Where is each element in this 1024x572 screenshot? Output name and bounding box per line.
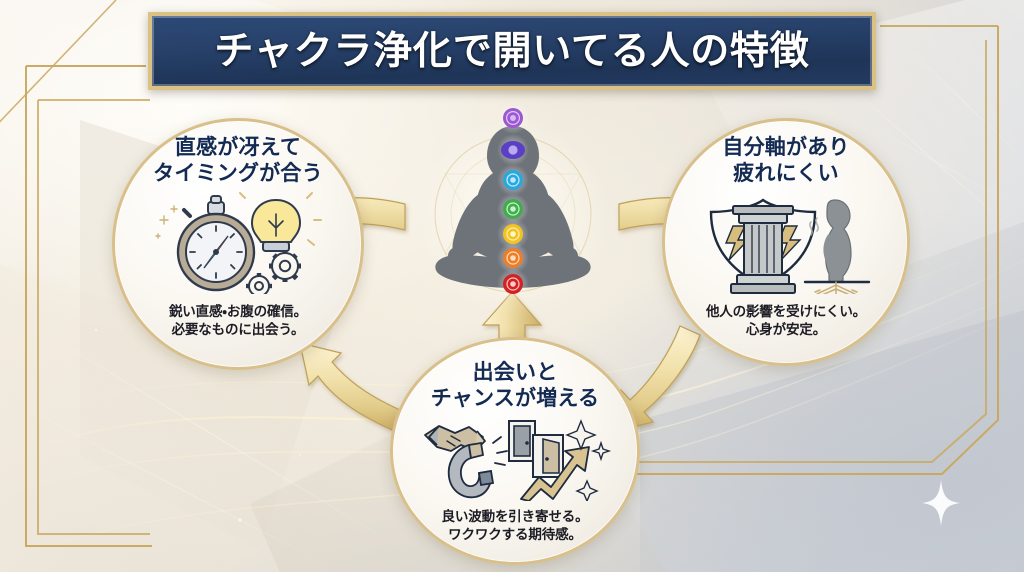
page-title: チャクラ浄化で開いてる人の特徴 (214, 32, 809, 71)
gear-small-icon (246, 273, 272, 294)
title-banner: チャクラ浄化で開いてる人の特徴 (148, 12, 876, 90)
infographic-canvas: チャクラ浄化で開いてる人の特徴 (0, 0, 1024, 572)
node-self-axis-icons (693, 190, 879, 299)
node-intuition[interactable]: 直感が冴えて タイミングが合う (112, 118, 364, 370)
node-intuition-title: 直感が冴えて タイミングが合う (153, 135, 323, 186)
node-opportunities-subtext: 良い波動を引き寄せる。 ワクワクする期待感。 (441, 508, 588, 544)
sparkle-icon (156, 206, 177, 238)
four-point-sparkle-icon (922, 480, 960, 526)
node-intuition-icons (148, 190, 328, 299)
node-intuition-subtext: 鋭い直感・お腹の確信。 必要なものに出会う。 (169, 303, 307, 339)
node-self-axis-title: 自分軸があり 疲れにくい (722, 135, 849, 186)
chakra-third-eye (497, 134, 529, 166)
node-opportunities-icons (417, 415, 613, 506)
center-meditating-figure (415, 106, 611, 316)
node-opportunities-title: 出会いと チャンスが増える (431, 360, 599, 411)
stopwatch-compass-icon (178, 196, 254, 290)
gear-icon (269, 250, 301, 282)
node-self-axis[interactable]: 自分軸があり 疲れにくい (662, 118, 910, 366)
door-icon (509, 421, 535, 461)
node-opportunities[interactable]: 出会いと チャンスが増える (390, 337, 640, 565)
chakra-root (497, 268, 529, 300)
chakra-throat (497, 164, 529, 196)
open-door-icon (533, 435, 563, 477)
node-self-axis-subtext: 他人の影響を受けにくい。 心身が安定。 (706, 303, 866, 339)
